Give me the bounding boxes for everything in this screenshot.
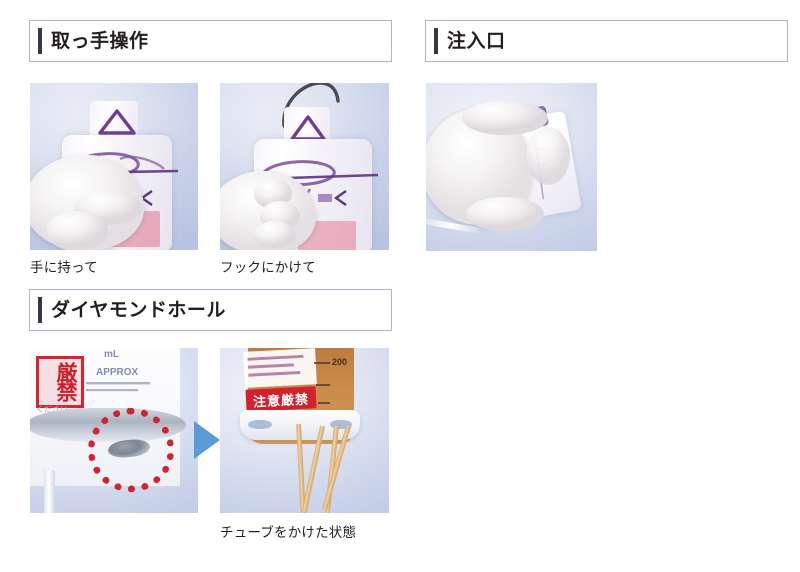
bag-unit-text: mL: [104, 350, 119, 360]
bag-warning-label: 注意厳禁: [245, 386, 316, 412]
glove-thumb: [466, 197, 544, 231]
figure-injection-port: [426, 83, 597, 251]
graduation-mark: [318, 402, 330, 404]
section-heading-diamond-hole: ダイヤモンドホール: [29, 289, 392, 331]
caption-hold-in-hand: 手に持って: [30, 256, 98, 276]
highlight-circle: [88, 408, 174, 492]
bag-open-arrow-print: [316, 187, 356, 209]
outlet-tube: [44, 470, 55, 513]
caption-tube-attached: チューブをかけた状態: [220, 521, 356, 541]
figure-hold-in-hand: [30, 83, 198, 250]
section-heading-label: 注入口: [447, 32, 506, 51]
bag-small-print-lines: [86, 382, 160, 402]
triangle-handle-icon: [96, 107, 138, 137]
heading-accent-bar: [38, 28, 42, 54]
figure-tube-attached: 200 注意厳禁: [220, 348, 389, 513]
graduation-mark: [316, 384, 330, 386]
graduation-label-200: 200: [332, 357, 347, 367]
figure-diamond-hole-closeup: 厳禁 mL APPROX ください: [30, 348, 198, 513]
bag-label-print-lines: [247, 354, 314, 383]
glove-knuckle: [254, 221, 296, 249]
section-heading-label: 取っ手操作: [51, 32, 149, 51]
diamond-hole-left: [248, 420, 272, 429]
section-heading-label: ダイヤモンドホール: [51, 301, 226, 320]
section-heading-injection-port: 注入口: [425, 20, 788, 62]
glove-palm: [526, 127, 570, 185]
bag-red-stamp-text: 厳禁: [40, 362, 76, 400]
right-arrow-icon: [194, 421, 220, 459]
page-root: 取っ手操作 手に持って: [0, 0, 800, 572]
graduation-mark: [314, 362, 330, 364]
glove-fingers-top: [462, 101, 548, 135]
section-heading-handle-operation: 取っ手操作: [29, 20, 392, 62]
heading-accent-bar: [434, 28, 438, 54]
heading-accent-bar: [38, 297, 42, 323]
caption-hang-on-hook: フックにかけて: [220, 256, 316, 276]
glove-thumb: [46, 211, 108, 250]
figure-hang-on-hook: [220, 83, 389, 250]
bag-approx-text: APPROX: [96, 368, 138, 378]
